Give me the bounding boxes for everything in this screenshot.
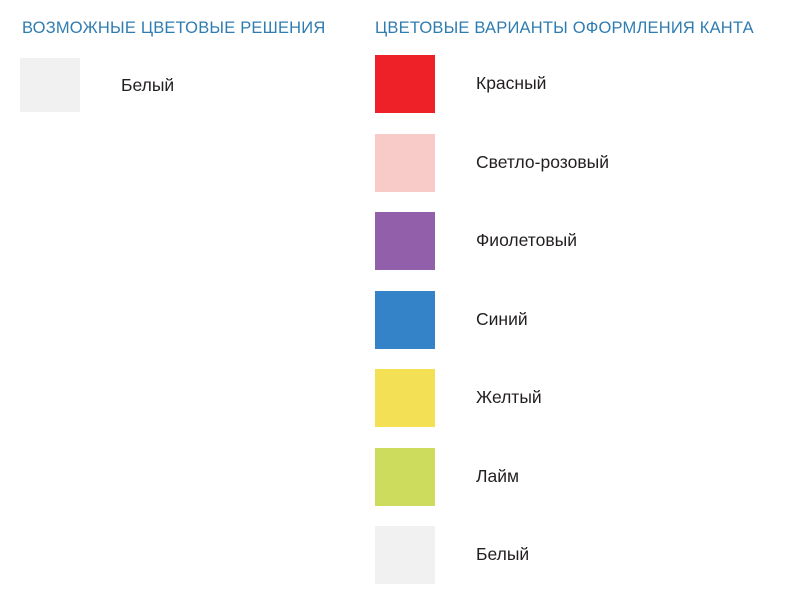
color-chip[interactable] bbox=[375, 134, 435, 192]
swatch-row[interactable]: Синий bbox=[375, 291, 800, 370]
swatch-row[interactable]: Фиолетовый bbox=[375, 212, 800, 291]
color-label: Фиолетовый bbox=[476, 230, 577, 250]
swatch-row[interactable]: Белый bbox=[375, 526, 800, 605]
color-options-sheet: ВОЗМОЖНЫЕ ЦВЕТОВЫЕ РЕШЕНИЯ Белый ЦВЕТОВЫ… bbox=[0, 0, 800, 600]
left-column-title: ВОЗМОЖНЫЕ ЦВЕТОВЫЕ РЕШЕНИЯ bbox=[22, 17, 325, 39]
color-label: Светло-розовый bbox=[476, 152, 609, 172]
left-column: ВОЗМОЖНЫЕ ЦВЕТОВЫЕ РЕШЕНИЯ Белый bbox=[0, 0, 368, 600]
color-label: Лайм bbox=[476, 466, 519, 486]
color-chip[interactable] bbox=[375, 55, 435, 113]
right-column: ЦВЕТОВЫЕ ВАРИАНТЫ ОФОРМЛЕНИЯ КАНТА Красн… bbox=[368, 0, 800, 600]
swatch-row[interactable]: Желтый bbox=[375, 369, 800, 448]
color-label: Красный bbox=[476, 73, 546, 93]
right-column-title: ЦВЕТОВЫЕ ВАРИАНТЫ ОФОРМЛЕНИЯ КАНТА bbox=[375, 17, 754, 39]
swatch-row[interactable]: Красный bbox=[375, 55, 800, 134]
left-swatch-list: Белый bbox=[20, 58, 368, 137]
color-chip[interactable] bbox=[375, 212, 435, 270]
swatch-row[interactable]: Белый bbox=[20, 58, 368, 137]
swatch-row[interactable]: Светло-розовый bbox=[375, 134, 800, 213]
color-chip[interactable] bbox=[375, 369, 435, 427]
color-chip[interactable] bbox=[375, 448, 435, 506]
color-chip[interactable] bbox=[375, 526, 435, 584]
color-chip[interactable] bbox=[20, 58, 80, 112]
swatch-row[interactable]: Лайм bbox=[375, 448, 800, 527]
color-label: Белый bbox=[476, 544, 529, 564]
color-label: Белый bbox=[121, 75, 174, 95]
color-label: Желтый bbox=[476, 387, 542, 407]
color-chip[interactable] bbox=[375, 291, 435, 349]
color-label: Синий bbox=[476, 309, 528, 329]
right-swatch-list: Красный Светло-розовый Фиолетовый Синий … bbox=[375, 55, 800, 605]
